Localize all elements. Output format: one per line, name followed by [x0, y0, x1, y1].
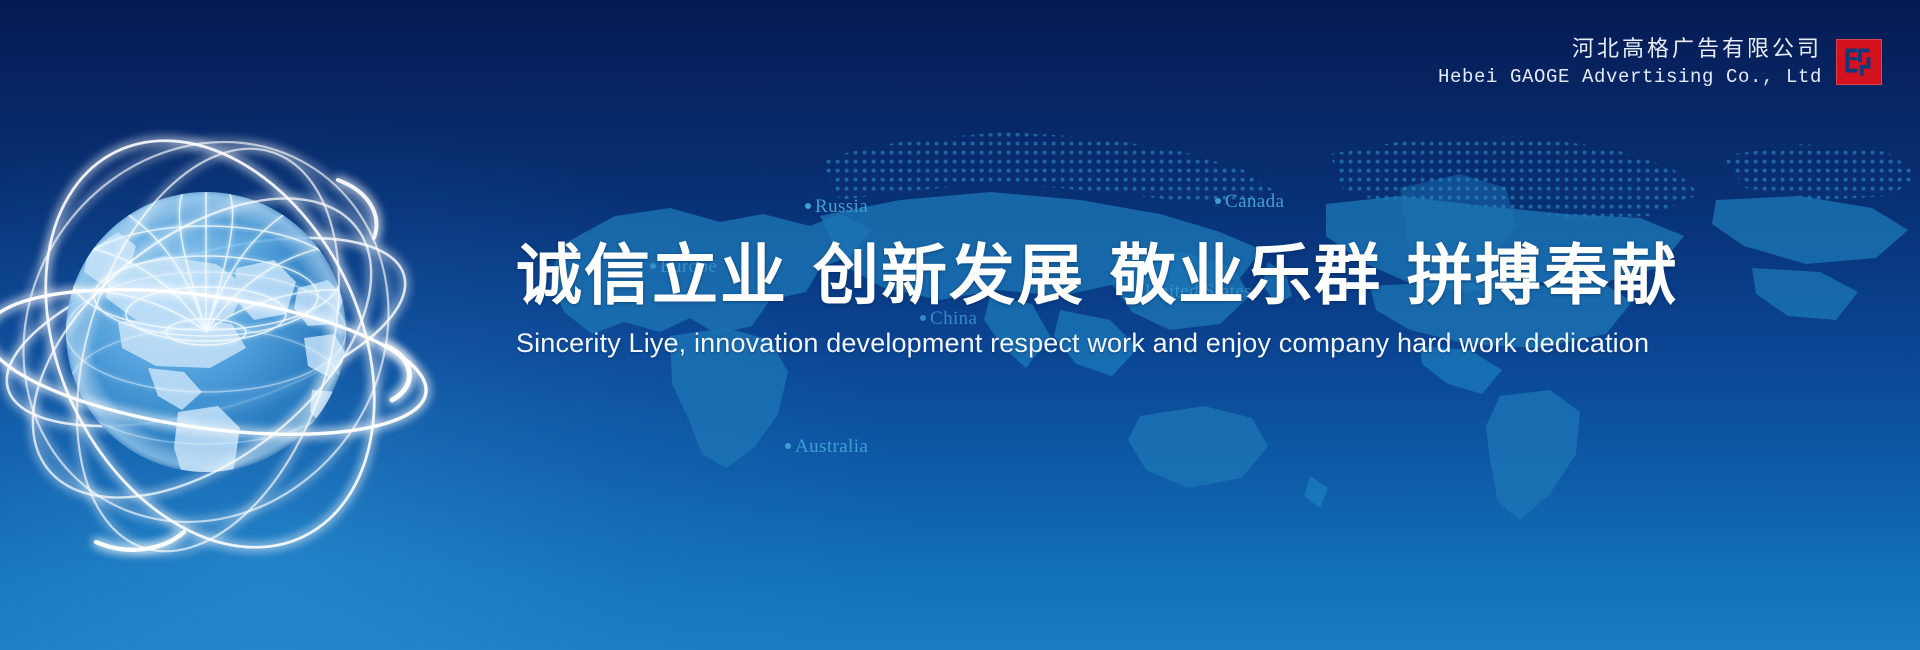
- company-banner: Russia Canada Europe China United States…: [0, 0, 1920, 650]
- map-label-australia: Australia: [785, 436, 868, 458]
- slogan-headline-cn: 诚信立业 创新发展 敬业乐群 拼搏奉献: [516, 243, 1916, 309]
- map-pin-dot-russia: [805, 203, 811, 209]
- map-label-russia: Russia: [805, 196, 868, 218]
- company-name-cn: 河北高格广告有限公司: [1438, 34, 1822, 63]
- map-pin-dot-australia: [785, 443, 791, 449]
- slogan-block: 诚信立业 创新发展 敬业乐群 拼搏奉献 Sincerity Liye, inno…: [516, 243, 1916, 359]
- company-header: 河北高格广告有限公司 Hebei GAOGE Advertising Co., …: [1438, 34, 1882, 91]
- company-name-en: Hebei GAOGE Advertising Co., Ltd: [1438, 65, 1822, 90]
- globe-graphic: [0, 100, 448, 570]
- company-name-block: 河北高格广告有限公司 Hebei GAOGE Advertising Co., …: [1438, 34, 1822, 91]
- map-label-canada: Canada: [1215, 191, 1284, 213]
- map-pin-dot-canada: [1215, 198, 1221, 204]
- company-logo[interactable]: [1836, 39, 1882, 85]
- slogan-subtitle-en: Sincerity Liye, innovation development r…: [516, 328, 1916, 359]
